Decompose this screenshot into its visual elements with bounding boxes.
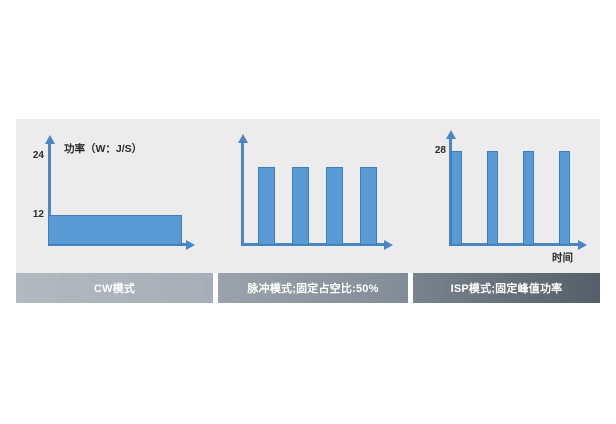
isp-pulse-bar xyxy=(523,151,534,245)
y-tick-24-cw: 24 xyxy=(24,150,44,161)
caption-isp-mode: ISP模式;固定峰值功率 xyxy=(413,273,600,303)
laser-mode-comparison-figure: 功率（W：J/S） 24 12 28 xyxy=(16,119,600,303)
x-axis-title-isp: 时间 xyxy=(552,250,573,265)
pulse-bar xyxy=(258,167,275,245)
y-axis-title-cw: 功率（W：J/S） xyxy=(64,141,142,156)
caption-cw-mode: CW模式 xyxy=(16,273,213,303)
x-axis-arrow-cw xyxy=(186,240,195,250)
cw-continuous-block xyxy=(48,215,182,245)
y-tick-28-isp: 28 xyxy=(424,145,446,156)
y-axis-arrow-pulse xyxy=(238,134,248,143)
pulse-bar xyxy=(326,167,343,245)
y-axis-pulse xyxy=(241,142,244,246)
isp-pulse-bar xyxy=(487,151,498,245)
y-axis-arrow-cw xyxy=(45,135,55,144)
panel-isp-mode: 28 时间 xyxy=(408,119,600,273)
x-axis-arrow-pulse xyxy=(384,240,393,250)
panel-pulse-mode xyxy=(213,119,408,273)
panel-cw-mode: 功率（W：J/S） 24 12 xyxy=(16,119,213,273)
y-axis-arrow-isp xyxy=(446,130,456,139)
pulse-bar xyxy=(292,167,309,245)
pulse-bar xyxy=(360,167,377,245)
x-axis-arrow-isp xyxy=(578,240,587,250)
caption-pulse-mode: 脉冲模式;固定占空比:50% xyxy=(218,273,408,303)
isp-pulse-bar xyxy=(559,151,570,245)
isp-pulse-bar xyxy=(451,151,462,245)
y-tick-12-cw: 12 xyxy=(24,209,44,220)
